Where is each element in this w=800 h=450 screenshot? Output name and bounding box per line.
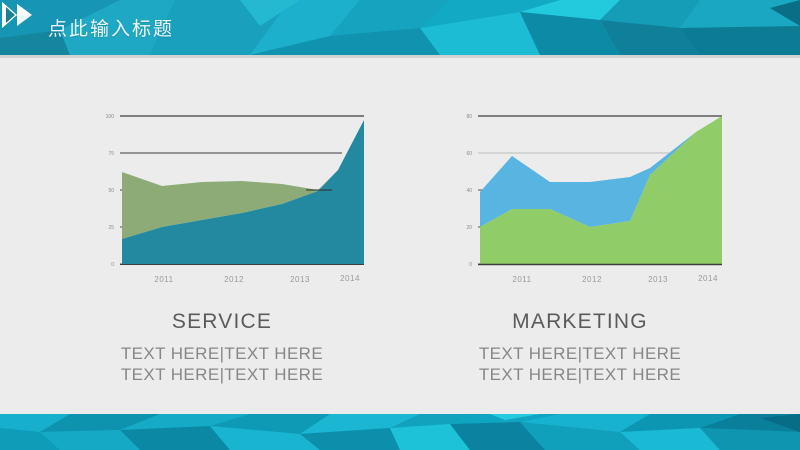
page-title: 点此输入标题 xyxy=(48,14,174,41)
subtext-line: TEXT HERE|TEXT HERE xyxy=(400,343,760,364)
footer-polygon-background xyxy=(0,414,800,450)
ytick-label: 80 xyxy=(466,114,472,120)
ytick-label: 25 xyxy=(108,225,114,231)
subtext-line: TEXT HERE|TEXT HERE xyxy=(42,343,402,364)
panel-marketing: 80 60 40 20 0 2011 2012 2013 2014 xyxy=(400,58,760,406)
panel-caption-service: SERVICE xyxy=(42,310,402,334)
ytick-label: 60 xyxy=(466,151,472,157)
slide-root: 点此输入标题 100 75 50 25 0 xyxy=(0,0,800,450)
xtick-label: 2012 xyxy=(582,275,602,284)
xtick-label: 2013 xyxy=(648,275,668,284)
ytick-label: 20 xyxy=(466,225,472,231)
marketing-chart: 80 60 40 20 0 2011 2012 2013 2014 xyxy=(450,108,730,288)
play-triangle-icon xyxy=(0,0,36,30)
ytick-label: 40 xyxy=(466,188,472,194)
panel-caption-marketing: MARKETING xyxy=(400,310,760,334)
panel-subtext-marketing: TEXT HERE|TEXT HERE TEXT HERE|TEXT HERE xyxy=(400,343,760,385)
ytick-label: 50 xyxy=(108,188,114,194)
subtext-line: TEXT HERE|TEXT HERE xyxy=(42,364,402,385)
xtick-label: 2014 xyxy=(698,274,718,283)
slide-body: 100 75 50 25 0 2011 2012 20 xyxy=(0,58,800,406)
ytick-label: 0 xyxy=(469,262,472,268)
xtick-label: 2011 xyxy=(512,275,531,284)
xtick-label: 2014 xyxy=(340,274,360,283)
xtick-label: 2012 xyxy=(224,275,244,284)
xtick-label: 2013 xyxy=(290,275,310,284)
slide-footer xyxy=(0,414,800,450)
slide-header: 点此输入标题 xyxy=(0,0,800,55)
ytick-label: 75 xyxy=(108,151,114,157)
panel-service: 100 75 50 25 0 2011 2012 20 xyxy=(42,58,402,406)
xtick-label: 2011 xyxy=(154,275,173,284)
subtext-line: TEXT HERE|TEXT HERE xyxy=(400,364,760,385)
ytick-label: 0 xyxy=(111,262,114,268)
ytick-label: 100 xyxy=(106,114,115,120)
service-chart: 100 75 50 25 0 2011 2012 20 xyxy=(92,108,372,288)
panel-subtext-service: TEXT HERE|TEXT HERE TEXT HERE|TEXT HERE xyxy=(42,343,402,385)
